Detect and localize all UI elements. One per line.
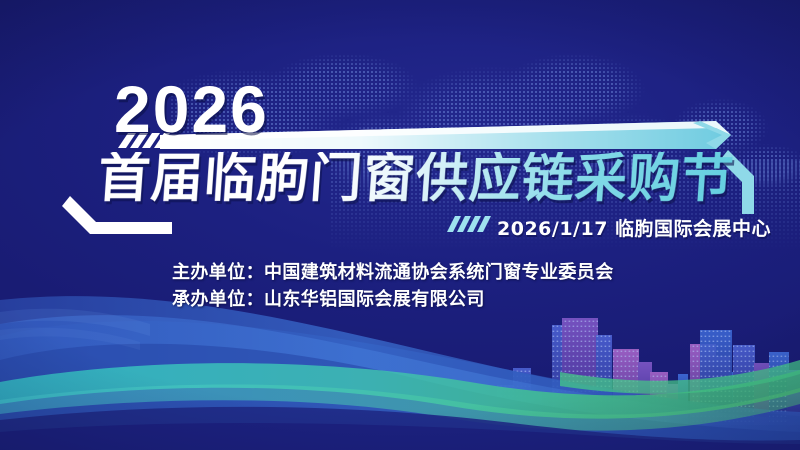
organizer-block: 主办单位：中国建筑材料流通协会系统门窗专业委员会 承办单位：山东华铝国际会展有限… (172, 259, 614, 313)
host-organizer: 主办单位：中国建筑材料流通协会系统门窗专业委员会 (172, 259, 614, 286)
page-title: 首届临朐门窗供应链采购节 (96, 152, 736, 207)
event-year: 2026 (114, 76, 269, 142)
event-poster: 2026 首届临朐门窗供应链采购节 2026/1/17 临朐国际会展中心 主办单… (0, 0, 800, 450)
event-date-venue: 2026/1/17 临朐国际会展中心 (497, 214, 771, 241)
co-host-organizer: 承办单位：山东华铝国际会展有限公司 (172, 286, 614, 313)
